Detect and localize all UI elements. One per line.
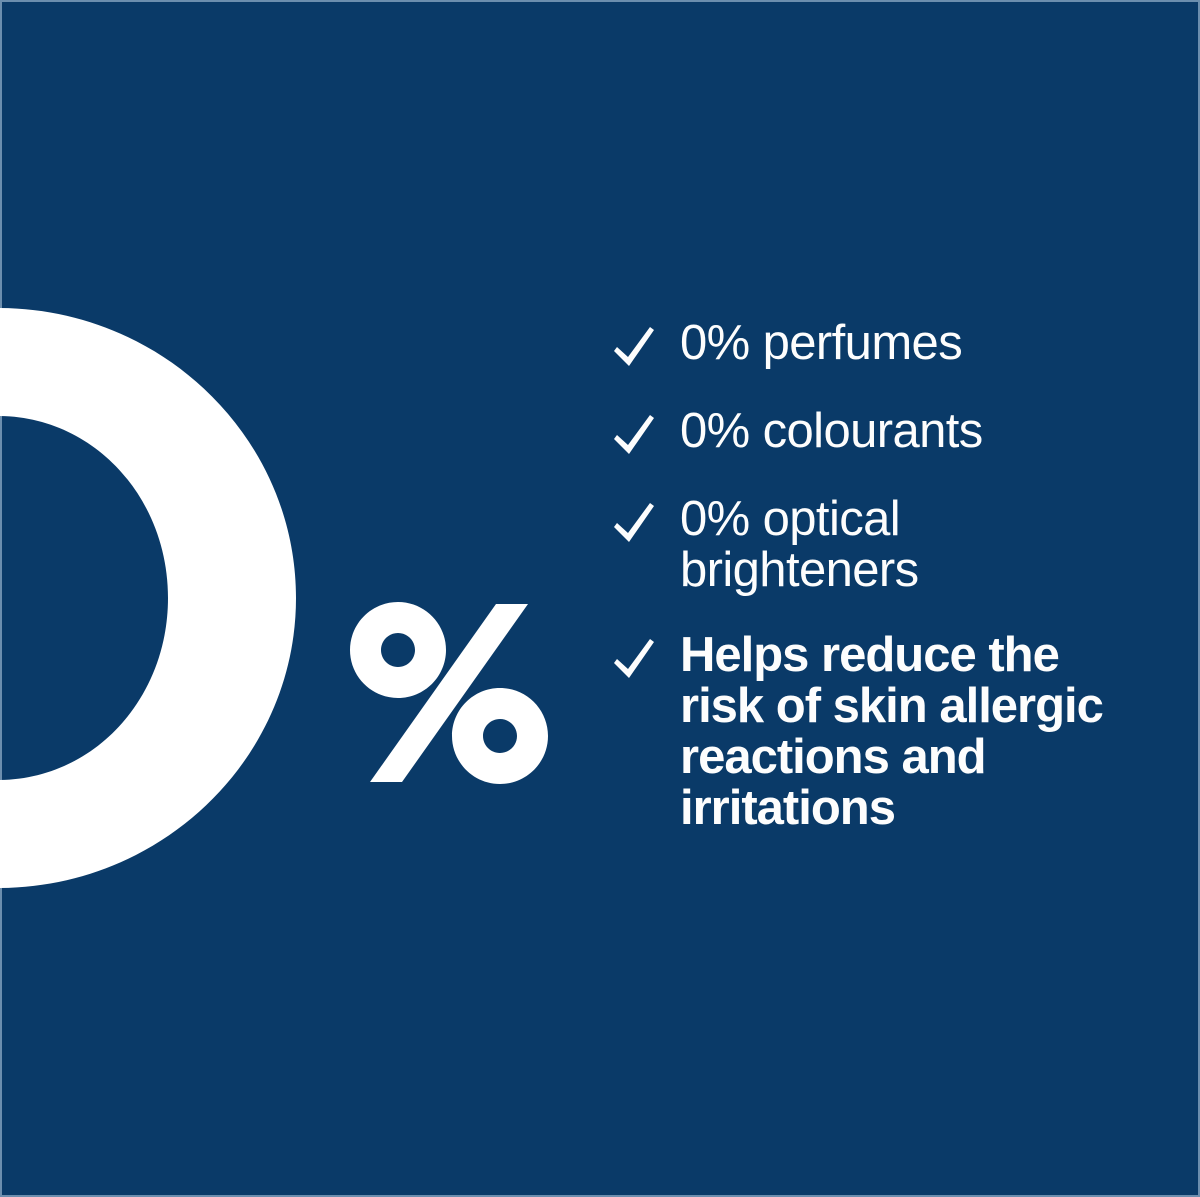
- percent-glyph-graphic: [350, 602, 548, 784]
- checkmark-icon: [610, 500, 656, 548]
- claim-item: 0% perfumes: [610, 318, 1150, 372]
- promo-panel: 0% perfumes 0% colourants 0% optical bri…: [0, 0, 1200, 1197]
- zero-glyph-graphic: [0, 308, 296, 888]
- claim-label: 0% optical brighteners: [680, 494, 919, 596]
- claim-item: 0% colourants: [610, 406, 1150, 460]
- checkmark-icon: [610, 324, 656, 372]
- claim-label: Helps reduce the risk of skin allergic r…: [680, 630, 1103, 834]
- checkmark-icon: [610, 636, 656, 684]
- claim-item: 0% optical brighteners: [610, 494, 1150, 596]
- checkmark-icon: [610, 412, 656, 460]
- claim-item: Helps reduce the risk of skin allergic r…: [610, 630, 1150, 834]
- claim-label: 0% colourants: [680, 406, 983, 457]
- claims-list: 0% perfumes 0% colourants 0% optical bri…: [610, 318, 1150, 834]
- claim-label: 0% perfumes: [680, 318, 962, 369]
